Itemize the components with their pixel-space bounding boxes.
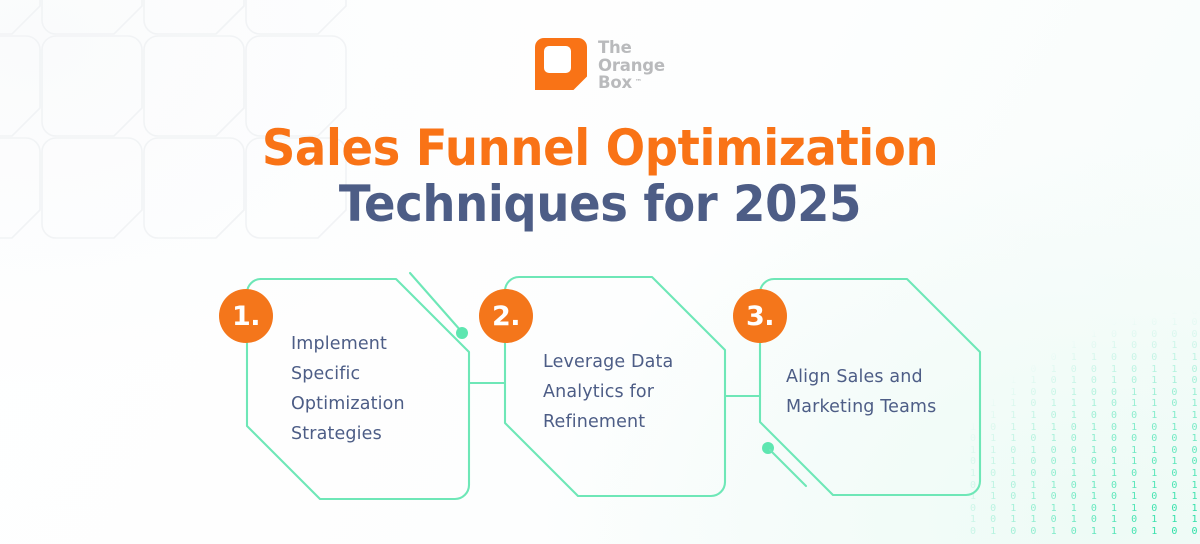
step-badge-1[interactable]: 1. — [219, 289, 273, 343]
step-badge-2[interactable]: 2. — [479, 289, 533, 343]
step-text-1: Implement Specific Optimization Strategi… — [291, 329, 481, 449]
step-card-3-dot-line — [770, 450, 806, 486]
step-badge-3[interactable]: 3. — [733, 289, 787, 343]
step-text-3: Align Sales and Marketing Teams — [786, 362, 1006, 422]
infographic-canvas: 0 1 0 1 1 0 1 0 1 1 0 0 1 0 1 1 0 1 0 1 … — [0, 0, 1200, 544]
step-text-2: Leverage Data Analytics for Refinement — [543, 347, 743, 437]
steps-diagram — [0, 0, 1200, 544]
